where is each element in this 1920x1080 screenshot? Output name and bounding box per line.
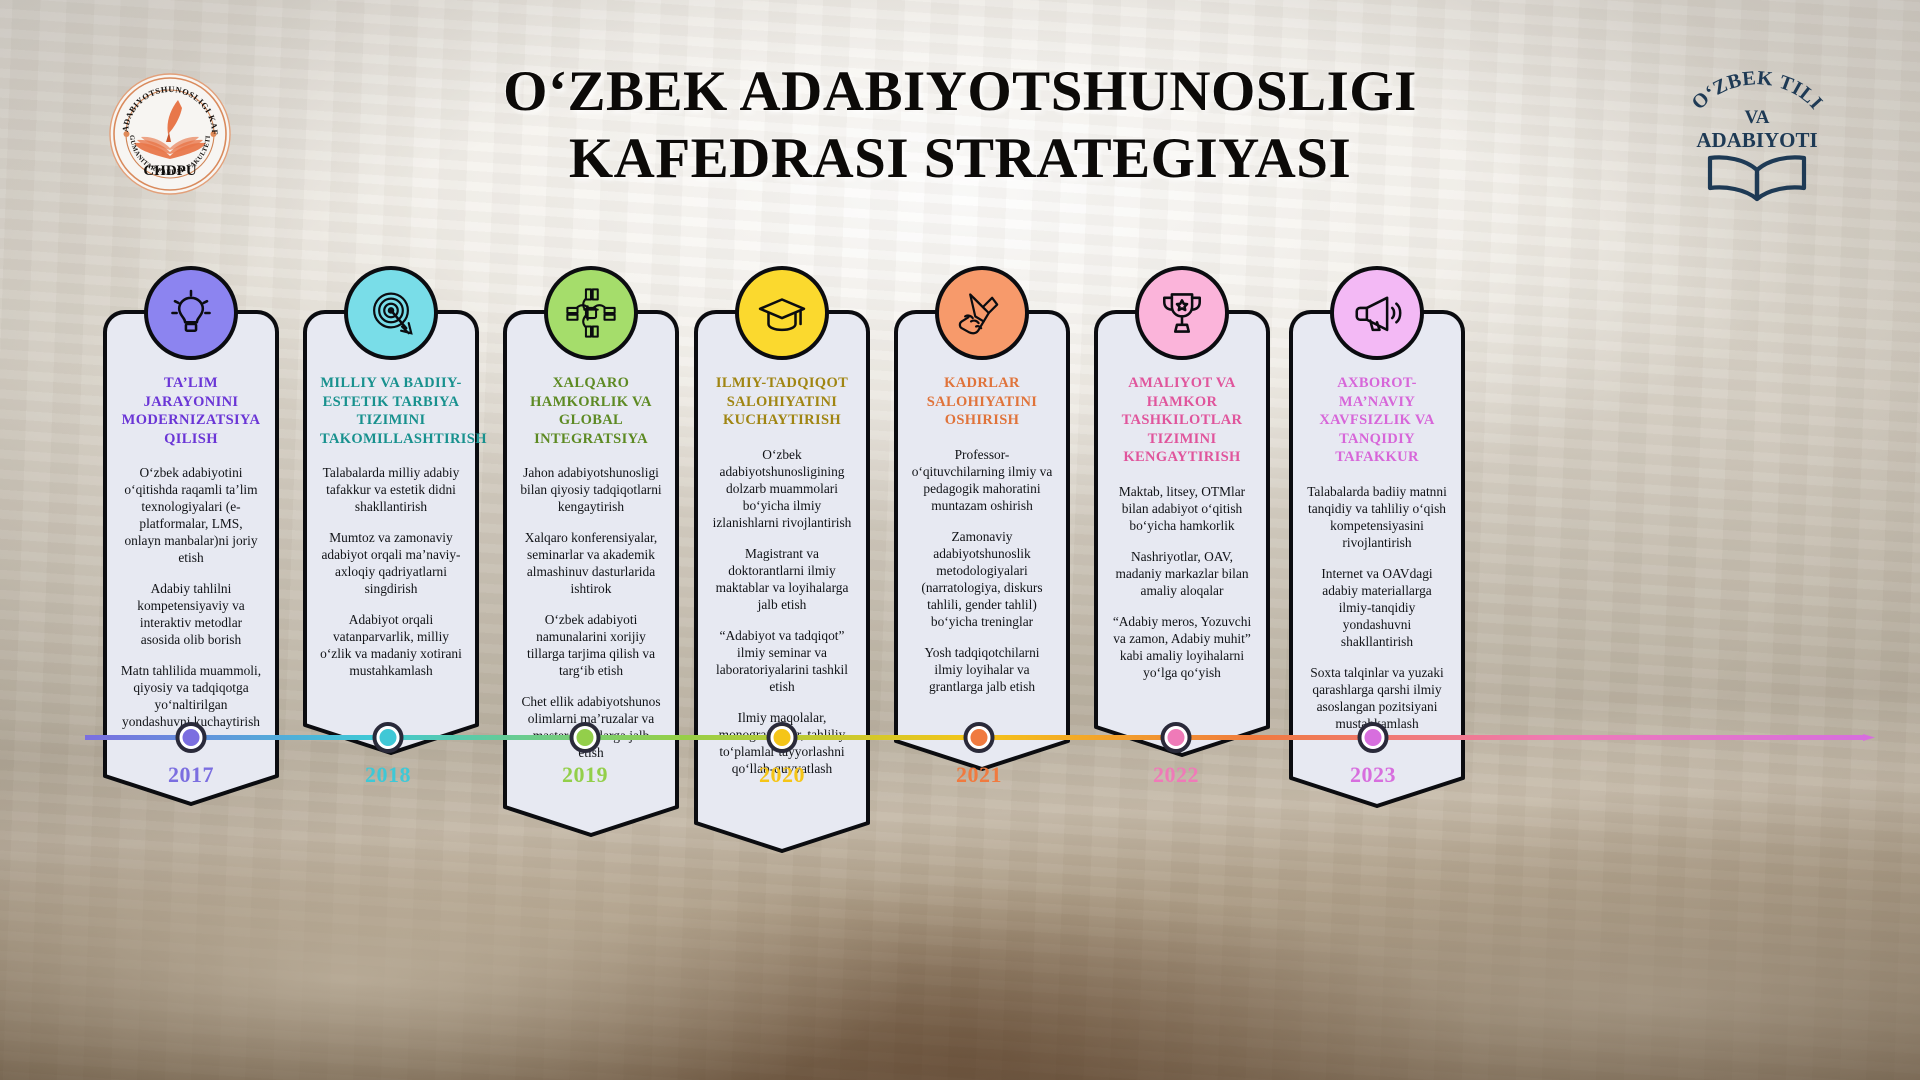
card-body: KADRLAR SALOHIYATINI OSHIRISH Professor-… [894,310,1070,705]
strategy-card: MILLIY VA BADIIY-ESTETIK TARBIYA TIZIMIN… [303,310,479,755]
card-paragraph: Jahon adabiyotshunosligi bilan qiyosiy t… [520,464,662,515]
graduation-cap-icon [735,266,829,360]
timeline-dot[interactable] [767,722,798,753]
megaphone-icon [1330,266,1424,360]
card-title: AXBOROT-MA’NAVIY XAVFSIZLIK VA TANQIDIY … [1306,374,1448,467]
card-title: KADRLAR SALOHIYATINI OSHIRISH [911,374,1053,430]
card-paragraph: Zamonaviy adabiyotshunoslik metodologiya… [911,528,1053,630]
timeline-dot[interactable] [176,722,207,753]
year-timeline: 2017201820192020202120222023 [0,700,1920,820]
card-paragraph: O‘zbek adabiyoti namunalarini xorijiy ti… [520,611,662,679]
teamwork-hands-icon [544,266,638,360]
card-paragraph: “Adabiy meros, Yozuvchi va zamon, Adabiy… [1111,613,1253,681]
timeline-year-label: 2020 [759,762,805,788]
uzbek-language-literature-emblem-logo: O‘ZBEK TILI VA ADABIYOTI [1672,62,1842,207]
card-title: MILLIY VA BADIIY-ESTETIK TARBIYA TIZIMIN… [320,374,462,448]
card-body: MILLIY VA BADIIY-ESTETIK TARBIYA TIZIMIN… [303,310,479,689]
card-paragraph: Yosh tadqiqotchilarni ilmiy loyihalar va… [911,644,1053,695]
card-body: TA’LIM JARAYONINI MODERNIZATSIYA QILISH … [103,310,279,740]
card-title: XALQARO HAMKORLIK VA GLOBAL INTEGRATSIYA [520,374,662,448]
card-paragraph: Professor-o‘qituvchilarning ilmiy va ped… [911,446,1053,514]
timeline-dot[interactable] [964,722,995,753]
timeline-year-label: 2022 [1153,762,1199,788]
card-paragraph: Talabalarda badiiy matnni tanqidiy va ta… [1306,483,1448,551]
card-title: ILMIY-TADQIQOT SALOHIYATINI KUCHAYTIRISH [711,374,853,430]
title-line-1: O‘ZBEK ADABIYOTSHUNOSLIGI [503,60,1417,123]
timeline-dot[interactable] [1358,722,1389,753]
timeline-dot[interactable] [373,722,404,753]
card-paragraph: O‘zbek adabiyotshunosligining dolzarb mu… [711,446,853,531]
card-paragraph: Nashriyotlar, OAV, madaniy markazlar bil… [1111,548,1253,599]
timeline-year-label: 2019 [562,762,608,788]
card-paragraph: Magistrant va doktorantlarni ilmiy makta… [711,545,853,613]
card-body: AMALIYOT VA HAMKOR TASHKILOTLAR TIZIMINI… [1094,310,1270,691]
timeline-dot[interactable] [570,722,601,753]
timeline-dot[interactable] [1161,722,1192,753]
card-paragraph: Adabiyot orqali vatanparvarlik, milliy o… [320,611,462,679]
timeline-year-label: 2021 [956,762,1002,788]
card-paragraph: Adabiy tahlilni kompetensiyaviy va inter… [120,580,262,648]
card-paragraph: Talabalarda milliy adabiy tafakkur va es… [320,464,462,515]
lightbulb-icon [144,266,238,360]
card-body: AXBOROT-MA’NAVIY XAVFSIZLIK VA TANQIDIY … [1289,310,1465,742]
trophy-icon [1135,266,1229,360]
timeline-year-label: 2018 [365,762,411,788]
card-paragraph: Maktab, litsey, OTMlar bilan adabiyot o‘… [1111,483,1253,534]
card-paragraph: Internet va OAVdagi adabiy materiallarga… [1306,565,1448,650]
strategy-cards: TA’LIM JARAYONINI MODERNIZATSIYA QILISH … [0,262,1920,702]
card-paragraph: O‘zbek adabiyotini o‘qitishda raqamli ta… [120,464,262,566]
title-line-2: KAFEDRASI STRATEGIYASI [569,127,1351,190]
timeline-year-label: 2023 [1350,762,1396,788]
target-icon [344,266,438,360]
card-title: AMALIYOT VA HAMKOR TASHKILOTLAR TIZIMINI… [1111,374,1253,467]
page-title: O‘ZBEK ADABIYOTSHUNOSLIGI KAFEDRASI STRA… [300,58,1620,193]
svg-text:VA: VA [1745,107,1770,128]
card-paragraph: Mumtoz va zamonaviy adabiyot orqali ma’n… [320,529,462,597]
card-paragraph: “Adabiyot va tadqiqot” ilmiy seminar va … [711,627,853,695]
timeline-year-label: 2017 [168,762,214,788]
card-paragraph: Xalqaro konferensiyalar, seminarlar va a… [520,529,662,597]
strategy-card: AMALIYOT VA HAMKOR TASHKILOTLAR TIZIMINI… [1094,310,1270,757]
page-header: O‘ZBEK ADABIYOTSHUNOSLIGI KAFEDRASI GUMA… [0,0,1920,230]
writing-hand-icon [935,266,1029,360]
chdpu-department-seal-logo: O‘ZBEK ADABIYOTSHUNOSLIGI KAFEDRASI GUMA… [108,72,232,196]
card-title: TA’LIM JARAYONINI MODERNIZATSIYA QILISH [120,374,262,448]
svg-text:ADABIYOTI: ADABIYOTI [1696,128,1817,152]
svg-text:CHDPU: CHDPU [143,163,196,179]
